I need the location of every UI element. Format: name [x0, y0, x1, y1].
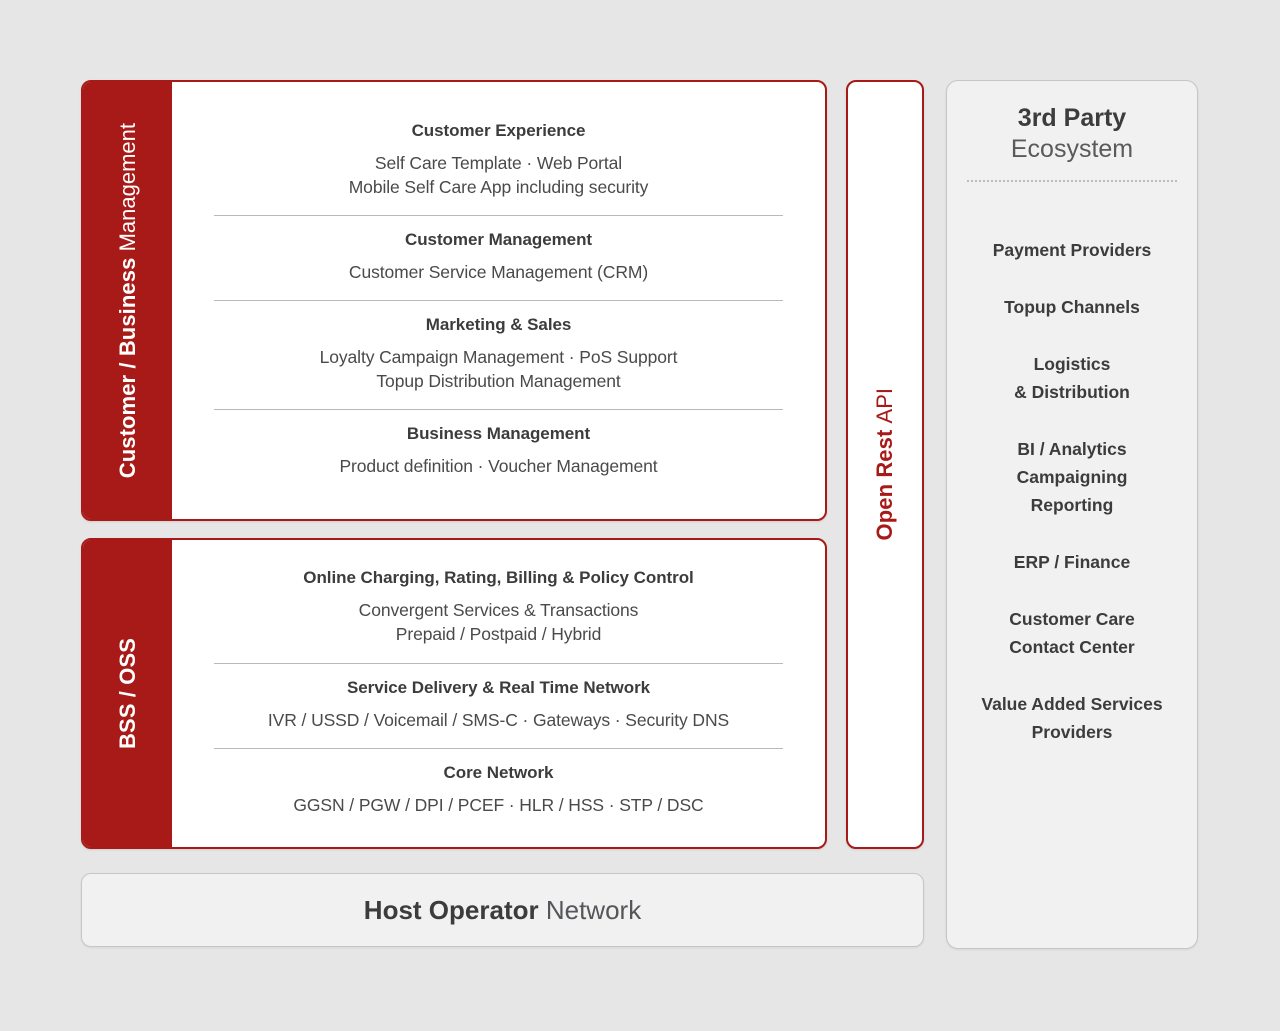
ecosystem-divider: [967, 180, 1177, 182]
section-title: Customer Experience: [214, 121, 783, 141]
section-service-delivery: Service Delivery & Real Time Network IVR…: [214, 663, 783, 748]
open-rest-api-label-bold: Open Rest: [872, 430, 897, 541]
open-rest-api-label: Open Rest API: [872, 388, 898, 541]
section-line: Convergent Services & Transactions: [214, 598, 783, 622]
customer-business-management-panel: Customer / Business Management Customer …: [81, 80, 827, 521]
third-party-ecosystem-panel: 3rd Party Ecosystem Payment Providers To…: [946, 80, 1198, 949]
cbm-side-label-light: Management: [115, 123, 140, 251]
section-title: Business Management: [214, 424, 783, 444]
section-line: Customer Service Management (CRM): [214, 260, 783, 284]
section-line: Mobile Self Care App including security: [214, 175, 783, 199]
ecosystem-item-value-added-services: Value Added Services Providers: [961, 690, 1183, 746]
cbm-side-label-bar: Customer / Business Management: [83, 82, 172, 519]
cbm-sections: Customer Experience Self Care Template ·…: [172, 82, 825, 519]
ecosystem-heading-light: Ecosystem: [961, 134, 1183, 165]
section-online-charging: Online Charging, Rating, Billing & Polic…: [214, 554, 783, 662]
section-line: Product definition · Voucher Management: [214, 454, 783, 478]
section-core-network: Core Network GGSN / PGW / DPI / PCEF · H…: [214, 748, 783, 833]
bss-side-label-bold: BSS / OSS: [115, 638, 140, 749]
section-title: Online Charging, Rating, Billing & Polic…: [214, 568, 783, 588]
host-operator-label-light: Network: [546, 895, 641, 926]
section-line: Loyalty Campaign Management · PoS Suppor…: [214, 345, 783, 369]
section-line: Self Care Template · Web Portal: [214, 151, 783, 175]
section-title: Marketing & Sales: [214, 315, 783, 335]
section-line: Prepaid / Postpaid / Hybrid: [214, 622, 783, 646]
ecosystem-item-bi-analytics: BI / Analytics Campaigning Reporting: [961, 435, 1183, 519]
cbm-side-label-bold: Customer / Business: [115, 257, 140, 478]
ecosystem-item-logistics-distribution: Logistics & Distribution: [961, 350, 1183, 406]
section-title: Service Delivery & Real Time Network: [214, 678, 783, 698]
section-line: IVR / USSD / Voicemail / SMS-C · Gateway…: [214, 708, 783, 732]
ecosystem-item-payment-providers: Payment Providers: [961, 236, 1183, 264]
ecosystem-items-list: Payment Providers Topup Channels Logisti…: [961, 236, 1183, 746]
ecosystem-item-erp-finance: ERP / Finance: [961, 548, 1183, 576]
bss-sections: Online Charging, Rating, Billing & Polic…: [172, 540, 825, 847]
cbm-side-label: Customer / Business Management: [115, 123, 141, 478]
ecosystem-item-customer-care: Customer Care Contact Center: [961, 605, 1183, 661]
bss-oss-panel: BSS / OSS Online Charging, Rating, Billi…: [81, 538, 827, 849]
diagram-canvas: Customer / Business Management Customer …: [0, 0, 1280, 1031]
section-line: Topup Distribution Management: [214, 369, 783, 393]
section-customer-experience: Customer Experience Self Care Template ·…: [214, 107, 783, 215]
open-rest-api-label-light: API: [872, 388, 897, 423]
section-title: Customer Management: [214, 230, 783, 250]
bss-side-label: BSS / OSS: [115, 638, 141, 749]
open-rest-api-column: Open Rest API: [846, 80, 924, 849]
section-title: Core Network: [214, 763, 783, 783]
section-customer-management: Customer Management Customer Service Man…: [214, 215, 783, 300]
bss-side-label-bar: BSS / OSS: [83, 540, 172, 847]
ecosystem-item-topup-channels: Topup Channels: [961, 293, 1183, 321]
section-business-management: Business Management Product definition ·…: [214, 409, 783, 494]
ecosystem-heading-bold: 3rd Party: [961, 103, 1183, 134]
section-line: GGSN / PGW / DPI / PCEF · HLR / HSS · ST…: [214, 793, 783, 817]
host-operator-network-bar: Host Operator Network: [81, 873, 924, 947]
section-marketing-sales: Marketing & Sales Loyalty Campaign Manag…: [214, 300, 783, 409]
host-operator-label-bold: Host Operator: [364, 895, 539, 926]
